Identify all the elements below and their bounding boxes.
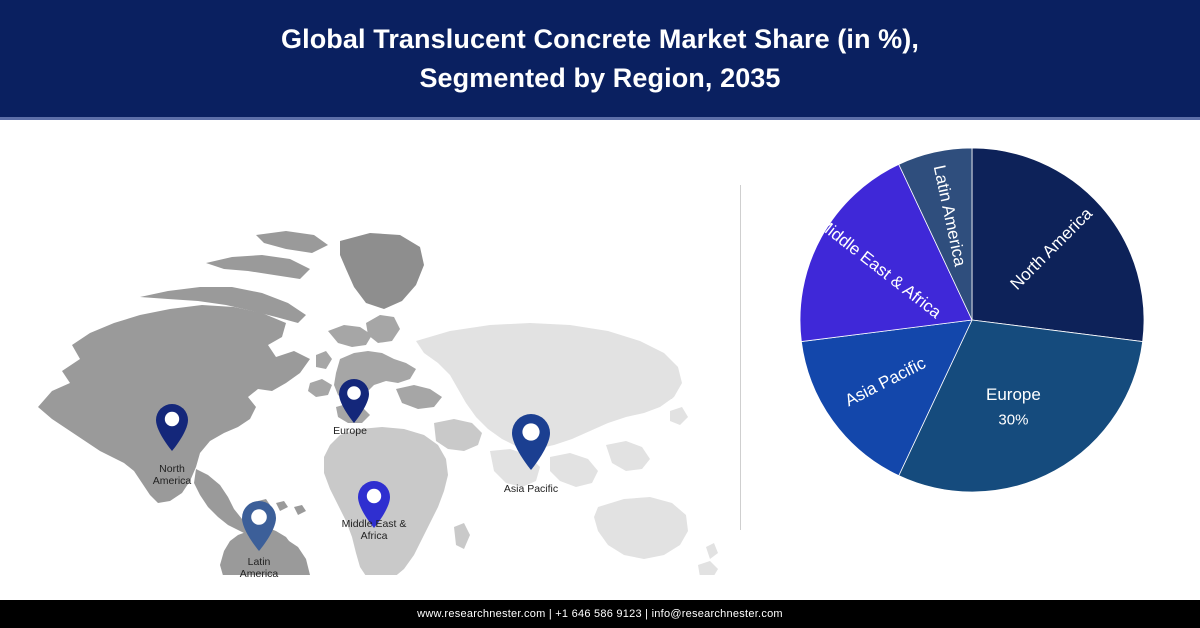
- infographic-page: Global Translucent Concrete Market Share…: [0, 0, 1200, 628]
- pie-slices: [800, 148, 1144, 492]
- footer-contact-text: www.researchnester.com | +1 646 586 9123…: [417, 608, 783, 620]
- footer-bar: www.researchnester.com | +1 646 586 9123…: [0, 600, 1200, 628]
- vertical-divider: [740, 185, 741, 530]
- content-area: North America Europe Asia Pacific Middle…: [0, 120, 1200, 600]
- map-label-latin-america: Latin America: [240, 556, 279, 581]
- map-label-middle-east-africa: Middle East & Africa: [342, 518, 407, 543]
- header-banner: Global Translucent Concrete Market Share…: [0, 0, 1200, 117]
- page-title-line-2: Segmented by Region, 2035: [100, 59, 1100, 97]
- map-label-north-america: North America: [153, 463, 192, 488]
- page-title-line-1: Global Translucent Concrete Market Share…: [100, 20, 1100, 58]
- map-label-europe: Europe: [333, 425, 367, 437]
- pie-value-europe: 30%: [998, 411, 1028, 428]
- page-title: Global Translucent Concrete Market Share…: [100, 20, 1100, 97]
- pie-label-europe: Europe: [986, 385, 1041, 404]
- pie-chart: North AmericaEurope30%Asia PacificMiddle…: [765, 140, 1185, 560]
- world-map: North America Europe Asia Pacific Middle…: [10, 145, 730, 575]
- map-label-asia-pacific: Asia Pacific: [504, 483, 558, 495]
